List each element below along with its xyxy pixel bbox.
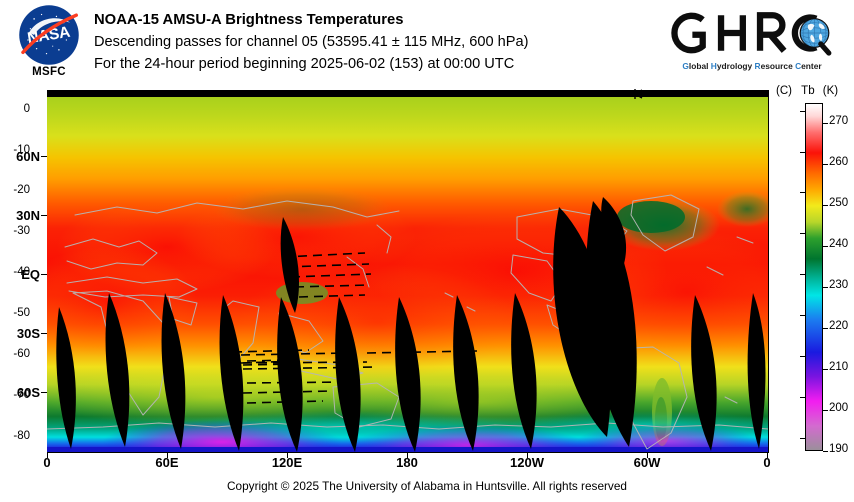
y-tick xyxy=(41,274,47,275)
colorbar-celsius-label: -20 xyxy=(0,184,30,196)
x-axis-label: 120W xyxy=(500,455,554,470)
colorbar-kelvin-label: 240 xyxy=(829,238,848,250)
colorbar-kelvin-label: 260 xyxy=(829,156,848,168)
colorbar-celsius-tick xyxy=(800,274,805,275)
colorbar-kelvin-label: 230 xyxy=(829,279,848,291)
colorbar-celsius-label: -50 xyxy=(0,307,30,319)
colorbar-celsius-label: -80 xyxy=(0,430,30,442)
nasa-meatball-icon: NASA xyxy=(18,4,80,66)
colorbar-kelvin-label: 270 xyxy=(829,115,848,127)
swath-direction-arrow-icon xyxy=(632,88,658,100)
colorbar-celsius-label: -40 xyxy=(0,266,30,278)
colorbar-celsius-label: -30 xyxy=(0,225,30,237)
colorbar-celsius-label: 0 xyxy=(0,103,30,115)
colorbar[interactable] xyxy=(805,103,823,451)
y-axis-label: 30N xyxy=(0,208,40,223)
colorbar-kelvin-label: 220 xyxy=(829,320,848,332)
y-tick xyxy=(41,215,47,216)
colorbar-kelvin-label: 200 xyxy=(829,402,848,414)
colorbar-kelvin-tick xyxy=(823,287,828,288)
channel-subtitle: Descending passes for channel 05 (53595.… xyxy=(94,31,674,53)
colorbar-kelvin-tick xyxy=(823,369,828,370)
colorbar-header: (C) Tb (K) xyxy=(776,85,854,97)
colorbar-kelvin-tick xyxy=(823,328,828,329)
x-axis-label: 120E xyxy=(260,455,314,470)
colorbar-kelvin-unit: (K) xyxy=(823,85,838,97)
colorbar-kelvin-tick xyxy=(823,205,828,206)
y-tick xyxy=(41,333,47,334)
colorbar-celsius-tick xyxy=(800,397,805,398)
page-title: NOAA-15 AMSU-A Brightness Temperatures xyxy=(94,9,674,31)
colorbar-celsius-tick xyxy=(800,315,805,316)
colorbar-variable-label: Tb xyxy=(801,85,814,97)
colorbar-kelvin-tick xyxy=(823,451,828,452)
colorbar-celsius-unit: (C) xyxy=(776,85,792,97)
colorbar-celsius-label: -10 xyxy=(0,144,30,156)
x-axis-label: 180 xyxy=(383,455,431,470)
colorbar-kelvin-tick xyxy=(823,123,828,124)
colorbar-celsius-tick xyxy=(800,438,805,439)
colorbar-celsius-tick xyxy=(800,111,805,112)
nasa-center-label: MSFC xyxy=(10,66,88,78)
colorbar-kelvin-label: 190 xyxy=(829,443,848,455)
colorbar-gradient xyxy=(805,103,823,451)
x-axis-label: 60E xyxy=(143,455,191,470)
colorbar-kelvin-tick xyxy=(823,246,828,247)
y-axis-label: 30S xyxy=(0,326,40,341)
y-tick xyxy=(41,392,47,393)
x-axis-label: 0 xyxy=(27,455,67,470)
colorbar-celsius-tick xyxy=(800,192,805,193)
copyright-notice: Copyright © 2025 The University of Alaba… xyxy=(0,479,854,493)
ghrc-wordmark-icon xyxy=(666,6,838,60)
x-axis-label: 0 xyxy=(747,455,787,470)
page-header: NASA MSFC NOAA-15 AMSU-A Brightness Temp… xyxy=(0,0,854,90)
title-block: NOAA-15 AMSU-A Brightness Temperatures D… xyxy=(94,9,674,75)
colorbar-celsius-label: -70 xyxy=(0,389,30,401)
nasa-logo: NASA MSFC xyxy=(10,2,88,86)
map-raster xyxy=(47,97,768,452)
colorbar-kelvin-label: 210 xyxy=(829,361,848,373)
colorbar-celsius-tick xyxy=(800,152,805,153)
colorbar-celsius-tick xyxy=(800,233,805,234)
colorbar-kelvin-tick xyxy=(823,164,828,165)
x-axis-label: 60W xyxy=(623,455,671,470)
y-tick xyxy=(41,156,47,157)
colorbar-celsius-label: -60 xyxy=(0,348,30,360)
colorbar-kelvin-label: 250 xyxy=(829,197,848,209)
period-subtitle: For the 24-hour period beginning 2025-06… xyxy=(94,53,674,75)
ghrc-logo: Global Hydrology Resource Center xyxy=(666,6,838,80)
ghrc-subtitle: Global Hydrology Resource Center xyxy=(668,61,836,71)
colorbar-kelvin-tick xyxy=(823,410,828,411)
colorbar-celsius-tick xyxy=(800,356,805,357)
brightness-temperature-map[interactable] xyxy=(47,97,768,452)
